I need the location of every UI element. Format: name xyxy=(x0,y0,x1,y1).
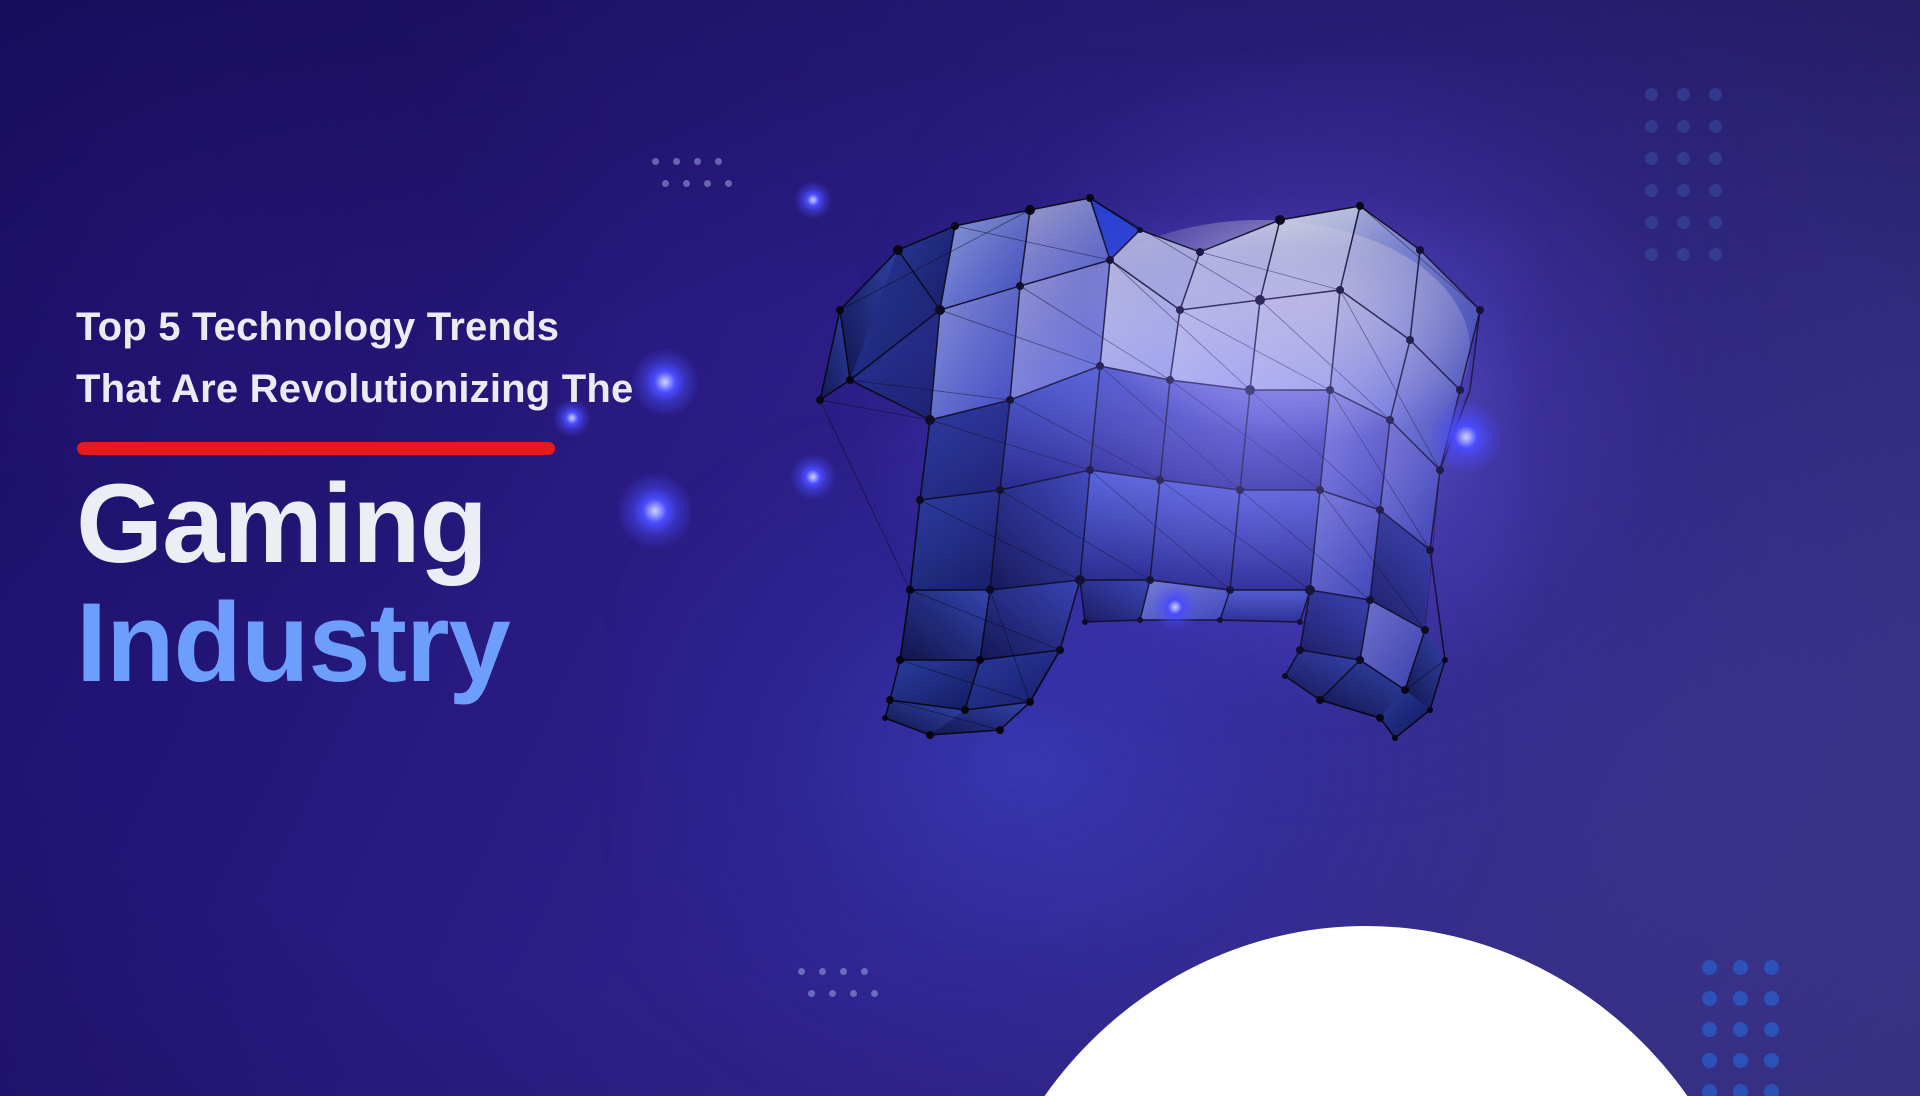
pattern-dot xyxy=(1645,248,1658,261)
pattern-dot xyxy=(1733,1053,1748,1068)
pattern-dot xyxy=(1764,991,1779,1006)
pattern-dot xyxy=(1645,88,1658,101)
pattern-dot xyxy=(1645,152,1658,165)
pattern-dot xyxy=(1709,88,1722,101)
pattern-dot xyxy=(808,990,815,997)
pattern-dot xyxy=(1702,1053,1717,1068)
bokeh-dot xyxy=(790,454,836,500)
pattern-dot xyxy=(704,180,711,187)
pattern-dot xyxy=(798,968,805,975)
pattern-dot xyxy=(1702,1084,1717,1096)
pattern-dot xyxy=(683,180,690,187)
pattern-dot xyxy=(1677,88,1690,101)
pattern-dot xyxy=(1733,1022,1748,1037)
kicker-line-2: That Are Revolutionizing The xyxy=(76,358,796,420)
dot-grid-bottom-right xyxy=(1702,960,1779,1096)
pattern-dot xyxy=(871,990,878,997)
pattern-dot xyxy=(1709,152,1722,165)
bokeh-dot xyxy=(1152,584,1198,630)
pattern-dot xyxy=(1709,184,1722,197)
pattern-dot xyxy=(725,180,732,187)
dot-cluster-bottom xyxy=(798,968,878,1008)
bokeh-dot xyxy=(1430,401,1501,472)
pattern-dot xyxy=(1645,120,1658,133)
pattern-dot xyxy=(694,158,701,165)
pattern-dot xyxy=(1677,184,1690,197)
bokeh-dot xyxy=(794,181,832,219)
pattern-dot xyxy=(1709,248,1722,261)
pattern-dot xyxy=(715,158,722,165)
pattern-dot xyxy=(1709,216,1722,229)
pattern-dot xyxy=(1733,960,1748,975)
pattern-dot xyxy=(819,968,826,975)
dot-grid-top-right xyxy=(1645,88,1722,261)
pattern-dot xyxy=(1677,120,1690,133)
pattern-dot xyxy=(1709,120,1722,133)
kicker-line-1: Top 5 Technology Trends xyxy=(76,296,796,358)
pattern-dot xyxy=(1733,1084,1748,1096)
headline-block: Top 5 Technology Trends That Are Revolut… xyxy=(76,296,796,706)
pattern-dot xyxy=(861,968,868,975)
pattern-dot xyxy=(1733,991,1748,1006)
pattern-dot xyxy=(1645,184,1658,197)
pattern-dot xyxy=(829,990,836,997)
pattern-dot xyxy=(1764,1053,1779,1068)
pattern-dot xyxy=(840,968,847,975)
pattern-dot xyxy=(1764,1022,1779,1037)
pattern-dot xyxy=(673,158,680,165)
pattern-dot xyxy=(1702,960,1717,975)
pattern-dot xyxy=(1677,152,1690,165)
pattern-dot xyxy=(1702,1022,1717,1037)
headline-secondary: Industry xyxy=(76,580,796,705)
pattern-dot xyxy=(1677,248,1690,261)
accent-underline xyxy=(77,442,555,455)
pattern-dot xyxy=(652,158,659,165)
pattern-dot xyxy=(662,180,669,187)
banner-canvas: Top 5 Technology Trends That Are Revolut… xyxy=(0,0,1920,1096)
headline-primary: Gaming xyxy=(76,461,796,586)
pattern-dot xyxy=(1764,960,1779,975)
dot-cluster-top xyxy=(652,158,732,198)
pattern-dot xyxy=(1677,216,1690,229)
pattern-dot xyxy=(1764,1084,1779,1096)
pattern-dot xyxy=(1645,216,1658,229)
pattern-dot xyxy=(1702,991,1717,1006)
pattern-dot xyxy=(850,990,857,997)
